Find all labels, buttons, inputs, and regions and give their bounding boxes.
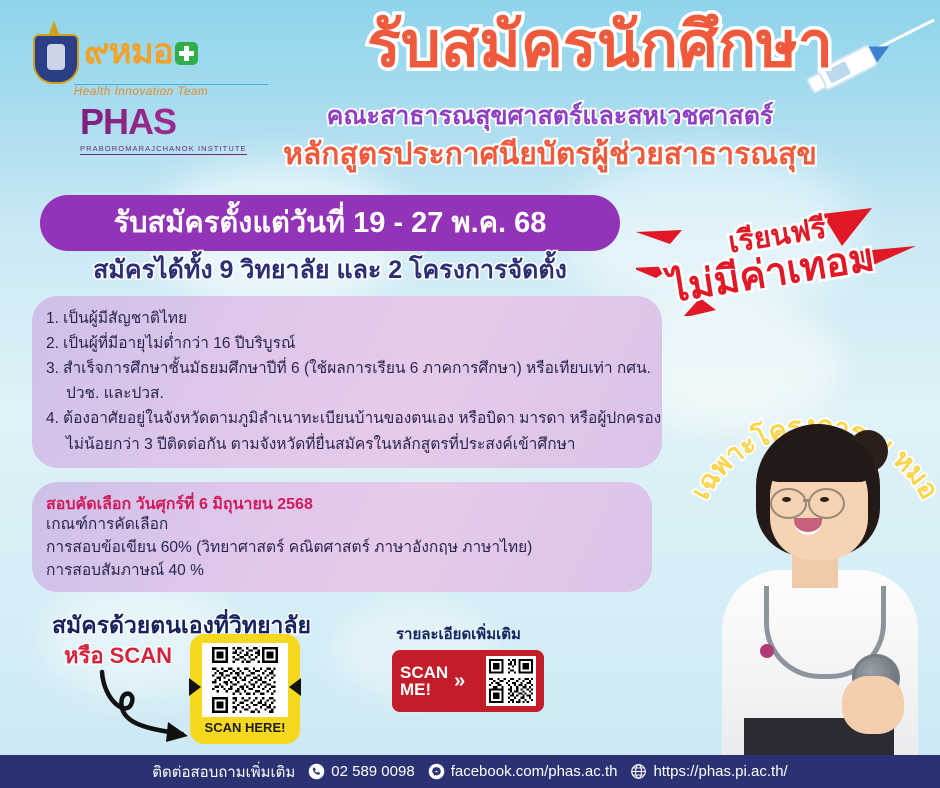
contact-phone-text: 02 589 0098 — [331, 763, 414, 780]
page-title: รับสมัครนักศึกษา — [300, 14, 900, 77]
list-item-text-cont: ไม่น้อยกว่า 3 ปีติดต่อกัน ตามจังหวัดที่ย… — [46, 432, 666, 457]
scan-me-badge[interactable]: SCAN ME! » — [392, 650, 544, 712]
contact-facebook-item[interactable]: facebook.com/phas.ac.th — [428, 763, 618, 780]
contact-footer: ติดต่อสอบถามเพิ่มเติม 02 589 0098 facebo… — [0, 755, 940, 788]
contact-website-text: https://phas.pi.ac.th/ — [653, 763, 787, 780]
contact-facebook-text: facebook.com/phas.ac.th — [451, 763, 618, 780]
poster-root: ๙หมอ Health Innovation Team PHAS PRABORO… — [0, 0, 940, 788]
list-item: 3. สำเร็จการศึกษาชั้นมัธยมศึกษาปีที่ 6 (… — [46, 356, 666, 381]
curved-arrow-icon — [88, 668, 198, 746]
scan-me-line2: ME! — [400, 681, 448, 698]
application-period-text: รับสมัครตั้งแต่วันที่ 19 - 27 พ.ค. 68 — [114, 209, 547, 238]
scan-me-line1: SCAN — [400, 664, 448, 681]
qr-scan-here-label: SCAN HERE! — [190, 720, 300, 735]
phas-acronym: PHAS — [80, 106, 268, 138]
green-cross-icon — [175, 42, 198, 65]
list-item-number: 1. — [46, 306, 63, 331]
contact-label: ติดต่อสอบถามเพิ่มเติม — [152, 760, 295, 784]
application-scope-text: สมัครได้ทั้ง 9 วิทยาลัย และ 2 โครงการจัด… — [40, 258, 620, 283]
subtitle-program: หลักสูตรประกาศนียบัตรผู้ช่วยสาธารณสุข — [240, 140, 860, 170]
list-item-text: เป็นผู้ที่มีอายุไม่ต่ำกว่า 16 ปีบริบูรณ์ — [63, 331, 295, 356]
nine-mor-text: ๙หมอ — [84, 32, 173, 71]
list-item-number: 2. — [46, 331, 63, 356]
contact-label-item: ติดต่อสอบถามเพิ่มเติม — [152, 760, 295, 784]
list-item-text: สำเร็จการศึกษาชั้นมัธยมศึกษาปีที่ 6 (ใช้… — [63, 356, 651, 381]
list-item-number: 4. — [46, 406, 63, 431]
qr-code-details — [486, 656, 536, 706]
list-item-text-cont: ปวช. และปวส. — [46, 381, 666, 406]
qr-code-apply[interactable]: SCAN HERE! — [190, 634, 300, 744]
subtitle-faculty: คณะสาธารณสุขศาสตร์และสหเวชศาสตร์ — [270, 104, 830, 129]
messenger-icon — [428, 763, 445, 780]
list-item: 2. เป็นผู้ที่มีอายุไม่ต่ำกว่า 16 ปีบริบู… — [46, 331, 666, 356]
contact-phone-item[interactable]: 02 589 0098 — [308, 763, 414, 780]
logo-tagline: Health Innovation Team — [74, 84, 268, 98]
exam-written-text: การสอบข้อเขียน 60% (วิทยาศาสตร์ คณิตศาสต… — [46, 537, 532, 560]
globe-icon — [630, 763, 647, 780]
scan-me-text: SCAN ME! — [400, 664, 448, 699]
qualifications-list: 1. เป็นผู้มีสัญชาติไทย 2. เป็นผู้ที่มีอา… — [46, 306, 666, 457]
exam-criteria-label: เกณฑ์การคัดเลือก — [46, 514, 532, 537]
nine-mor-logo: ๙หมอ — [28, 20, 268, 82]
qr-code-image — [202, 643, 288, 717]
details-heading: รายละเอียดเพิ่มเติม — [396, 622, 521, 646]
list-item-number: 3. — [46, 356, 63, 381]
play-right-icon — [289, 678, 301, 696]
play-left-icon — [189, 678, 201, 696]
royal-emblem-icon — [28, 20, 80, 82]
phone-icon — [308, 763, 325, 780]
list-item-text: ต้องอาศัยอยู่ในจังหวัดตามภูมิลำเนาทะเบีย… — [63, 406, 661, 431]
nine-mor-wordmark: ๙หมอ — [84, 34, 198, 69]
exam-criteria-block: เกณฑ์การคัดเลือก การสอบข้อเขียน 60% (วิท… — [46, 514, 532, 582]
application-period-banner: รับสมัครตั้งแต่วันที่ 19 - 27 พ.ค. 68 — [40, 195, 620, 251]
list-item: 4. ต้องอาศัยอยู่ในจังหวัดตามภูมิลำเนาทะเ… — [46, 406, 666, 431]
list-item-text: เป็นผู้มีสัญชาติไทย — [63, 306, 187, 331]
student-photo — [700, 418, 932, 770]
list-item: 1. เป็นผู้มีสัญชาติไทย — [46, 306, 666, 331]
chevron-right-icon: » — [454, 670, 461, 693]
phas-full-name: PRABOROMARAJCHANOK INSTITUTE — [80, 144, 247, 155]
logo-block: ๙หมอ Health Innovation Team PHAS PRABORO… — [28, 20, 268, 156]
free-tuition-badge: เรียนฟรี ไม่มีค่าเทอม — [636, 206, 926, 316]
exam-interview-text: การสอบสัมภาษณ์ 40 % — [46, 560, 532, 583]
contact-website-item[interactable]: https://phas.pi.ac.th/ — [630, 763, 787, 780]
